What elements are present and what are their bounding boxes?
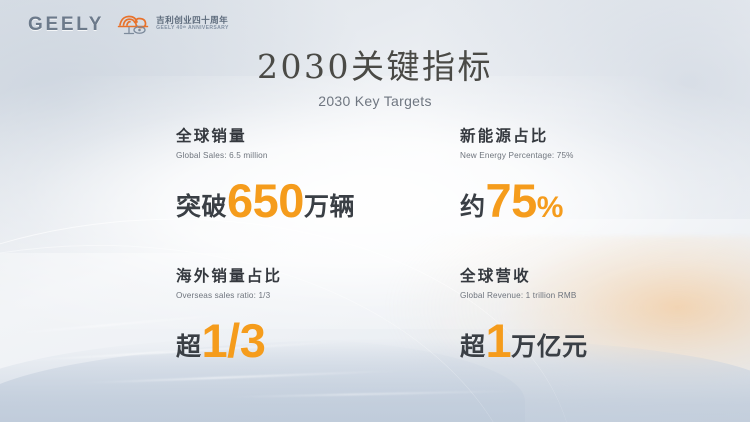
metric-sublabel: New Energy Percentage: 75% (460, 151, 596, 161)
brand-bar: GEELY (0, 0, 750, 48)
metric-value-number: 1 (486, 319, 512, 362)
metric-value-prefix: 超 (176, 335, 202, 360)
metric-overseas-sales-ratio: 海外销量占比 Overseas sales ratio: 1/3 超 1/3 (176, 268, 460, 408)
metric-value-number: 1/3 (202, 319, 266, 362)
metric-sublabel: Global Sales: 6.5 million (176, 151, 460, 161)
metric-value-row: 约 75 % (460, 177, 596, 220)
metric-sublabel: Overseas sales ratio: 1/3 (176, 291, 460, 301)
metric-value-row: 超 1 万亿元 (460, 317, 596, 360)
metric-value-prefix: 突破 (176, 195, 227, 220)
metric-sublabel: Global Revenue: 1 trillion RMB (460, 291, 596, 301)
page-subtitle: 2030 Key Targets (0, 93, 750, 109)
metric-label: 海外销量占比 (176, 268, 460, 287)
metric-label: 全球销量 (176, 128, 460, 147)
presentation-slide: GEELY (0, 0, 750, 422)
metric-global-revenue: 全球营收 Global Revenue: 1 trillion RMB 超 1 … (460, 268, 596, 408)
metric-new-energy-percentage: 新能源占比 New Energy Percentage: 75% 约 75 % (460, 128, 596, 268)
anniversary-title-en: GEELY 40ᵗʰ ANNIVERSARY (156, 26, 229, 31)
metric-value-suffix: 万亿元 (511, 335, 588, 360)
metric-value-number: 650 (227, 179, 304, 222)
metric-global-sales: 全球销量 Global Sales: 6.5 million 突破 650 万辆 (176, 128, 460, 268)
geely-40-anniversary-emblem-icon (117, 12, 149, 36)
page-title: 2030关键指标 (0, 48, 750, 86)
anniversary-text-block: 吉利创业四十周年 GEELY 40ᵗʰ ANNIVERSARY (156, 16, 229, 31)
metric-value-unit: % (537, 194, 564, 222)
metric-value-suffix: 万辆 (304, 195, 355, 220)
metric-value-row: 突破 650 万辆 (176, 177, 460, 220)
metrics-grid: 全球销量 Global Sales: 6.5 million 突破 650 万辆… (176, 128, 596, 408)
slide-title-block: 2030关键指标 2030 Key Targets (0, 48, 750, 109)
metric-label: 全球营收 (460, 268, 596, 287)
brand-lockup: GEELY (28, 12, 229, 36)
metric-value-prefix: 超 (460, 335, 486, 360)
anniversary-title-cn: 吉利创业四十周年 (156, 16, 229, 25)
geely-wordmark: GEELY (28, 15, 104, 34)
metric-label: 新能源占比 (460, 128, 596, 147)
metric-value-row: 超 1/3 (176, 317, 460, 360)
metric-value-prefix: 约 (460, 195, 486, 220)
anniversary-lockup: 吉利创业四十周年 GEELY 40ᵗʰ ANNIVERSARY (117, 12, 229, 36)
metric-value-number: 75 (486, 179, 537, 222)
